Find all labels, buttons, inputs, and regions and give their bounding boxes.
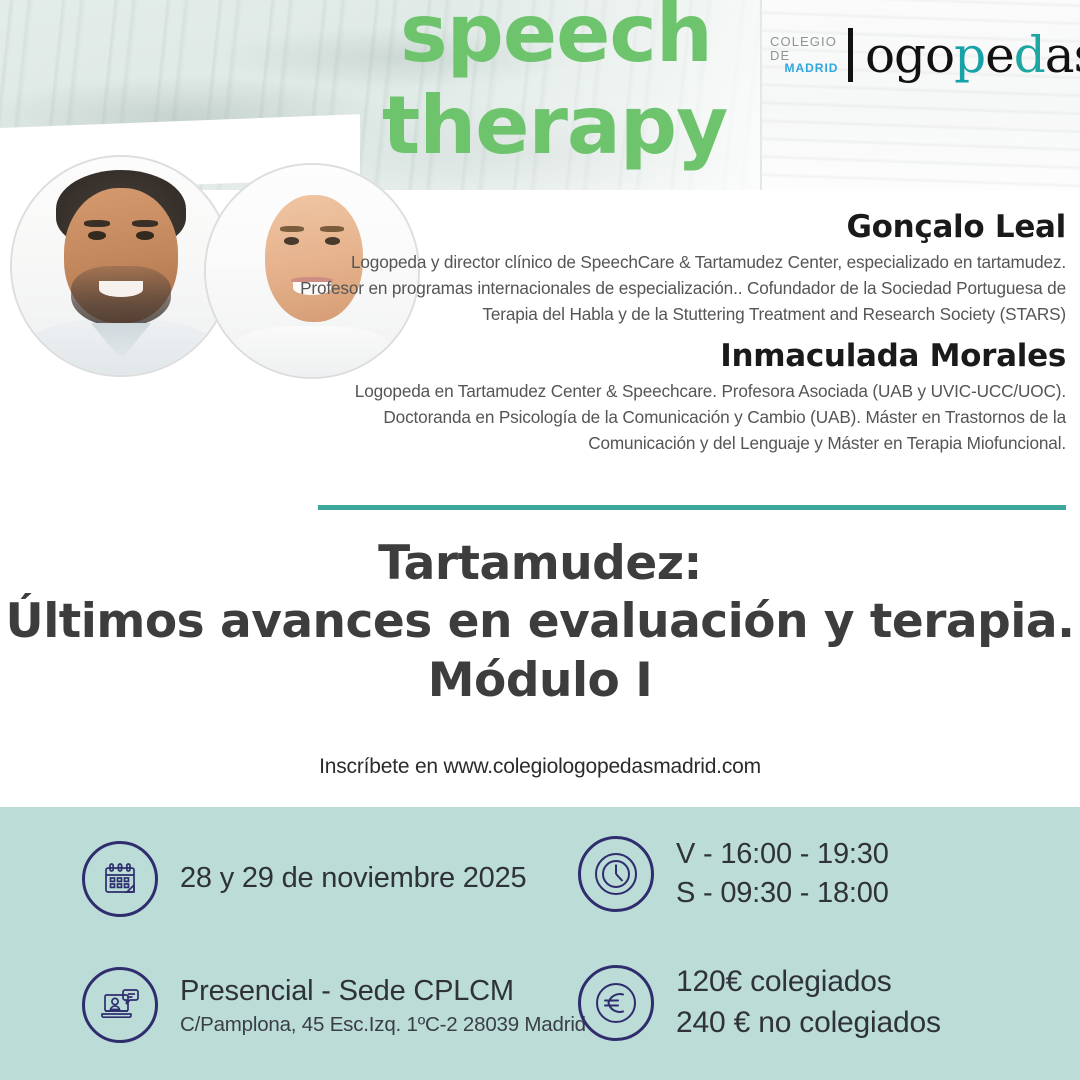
- price-non-members: 240 € no colegiados: [676, 1003, 941, 1044]
- logo-wordmark-teal-p: p: [954, 30, 985, 80]
- portrait-brow-right: [132, 220, 158, 227]
- event-time-friday: V - 16:00 - 19:30: [676, 835, 889, 874]
- course-title: Tartamudez: Últimos avances en evaluació…: [0, 535, 1080, 710]
- portrait-beard: [71, 266, 171, 327]
- portrait-smile: [99, 281, 143, 296]
- avatar: [12, 157, 230, 375]
- speaker-name: Inmaculada Morales: [300, 337, 1066, 376]
- section-divider: [318, 505, 1066, 510]
- logo-wordmark-teal-d: d: [1014, 30, 1045, 80]
- detail-text-time: V - 16:00 - 19:30 S - 09:30 - 18:00: [676, 835, 889, 913]
- logo-text-block: COLEGIO DE MADRID: [770, 35, 838, 75]
- calendar-icon: [82, 841, 158, 917]
- colegio-logopedas-logo: COLEGIO DE MADRID ogopedas: [770, 28, 1080, 82]
- speaker-bio: Logopeda en Tartamudez Center & Speechca…: [300, 378, 1066, 456]
- hero-headline-line2: therapy: [382, 86, 727, 166]
- detail-text-date: 28 y 29 de noviembre 2025: [180, 859, 526, 898]
- speaker-block-2: Inmaculada Morales Logopeda en Tartamude…: [300, 337, 1066, 456]
- logo-wordmark-seg2: e: [985, 30, 1014, 80]
- euro-icon: [578, 965, 654, 1041]
- logo-wordmark: ogopedas: [865, 30, 1080, 80]
- course-title-line1: Tartamudez:: [0, 535, 1080, 593]
- speaker-name: Gonçalo Leal: [300, 208, 1066, 247]
- portrait-eye-right: [136, 231, 153, 240]
- event-time-saturday: S - 09:30 - 18:00: [676, 874, 889, 913]
- detail-row-price: 120€ colegiados 240 € no colegiados: [578, 962, 941, 1043]
- detail-row-location: Presencial - Sede CPLCM C/Pamplona, 45 E…: [82, 967, 586, 1043]
- course-title-line3: Módulo I: [0, 652, 1080, 710]
- poster-canvas: speech therapy COLEGIO DE MADRID ogopeda…: [0, 0, 1080, 1080]
- logo-vertical-bar-icon: [848, 28, 852, 82]
- portrait-eye-left: [88, 231, 105, 240]
- online-class-icon: [82, 967, 158, 1043]
- detail-text-price: 120€ colegiados 240 € no colegiados: [676, 962, 941, 1043]
- portrait-eye-left: [284, 237, 299, 245]
- event-details-panel: 28 y 29 de noviembre 2025 V - 16:00 - 19…: [0, 807, 1080, 1080]
- speaker-block-1: Gonçalo Leal Logopeda y director clínico…: [300, 208, 1066, 327]
- signup-url-text[interactable]: Inscríbete en www.colegiologopedasmadrid…: [0, 755, 1080, 779]
- hero-headline-line1: speech: [400, 0, 712, 74]
- logo-madrid-label: MADRID: [784, 62, 838, 75]
- event-venue-address: C/Pamplona, 45 Esc.Izq. 1ºC-2 28039 Madr…: [180, 1011, 586, 1039]
- speaker-photo-goncalo-leal: [10, 155, 232, 377]
- price-members: 120€ colegiados: [676, 962, 941, 1003]
- detail-row-time: V - 16:00 - 19:30 S - 09:30 - 18:00: [578, 835, 889, 913]
- portrait-brow-left: [84, 220, 110, 227]
- event-venue-name: Presencial - Sede CPLCM: [180, 972, 586, 1011]
- clock-icon: [578, 836, 654, 912]
- speakers-section: Gonçalo Leal Logopeda y director clínico…: [300, 208, 1080, 456]
- detail-text-location: Presencial - Sede CPLCM C/Pamplona, 45 E…: [180, 972, 586, 1039]
- logo-wordmark-seg1: ogo: [865, 30, 954, 80]
- course-title-line2: Últimos avances en evaluación y terapia.: [0, 593, 1080, 651]
- event-date-value: 28 y 29 de noviembre 2025: [180, 859, 526, 898]
- detail-row-date: 28 y 29 de noviembre 2025: [82, 841, 526, 917]
- logo-wordmark-seg3: as: [1045, 30, 1080, 80]
- speaker-bio: Logopeda y director clínico de SpeechCar…: [300, 249, 1066, 327]
- logo-colegio-label: COLEGIO DE: [770, 35, 838, 62]
